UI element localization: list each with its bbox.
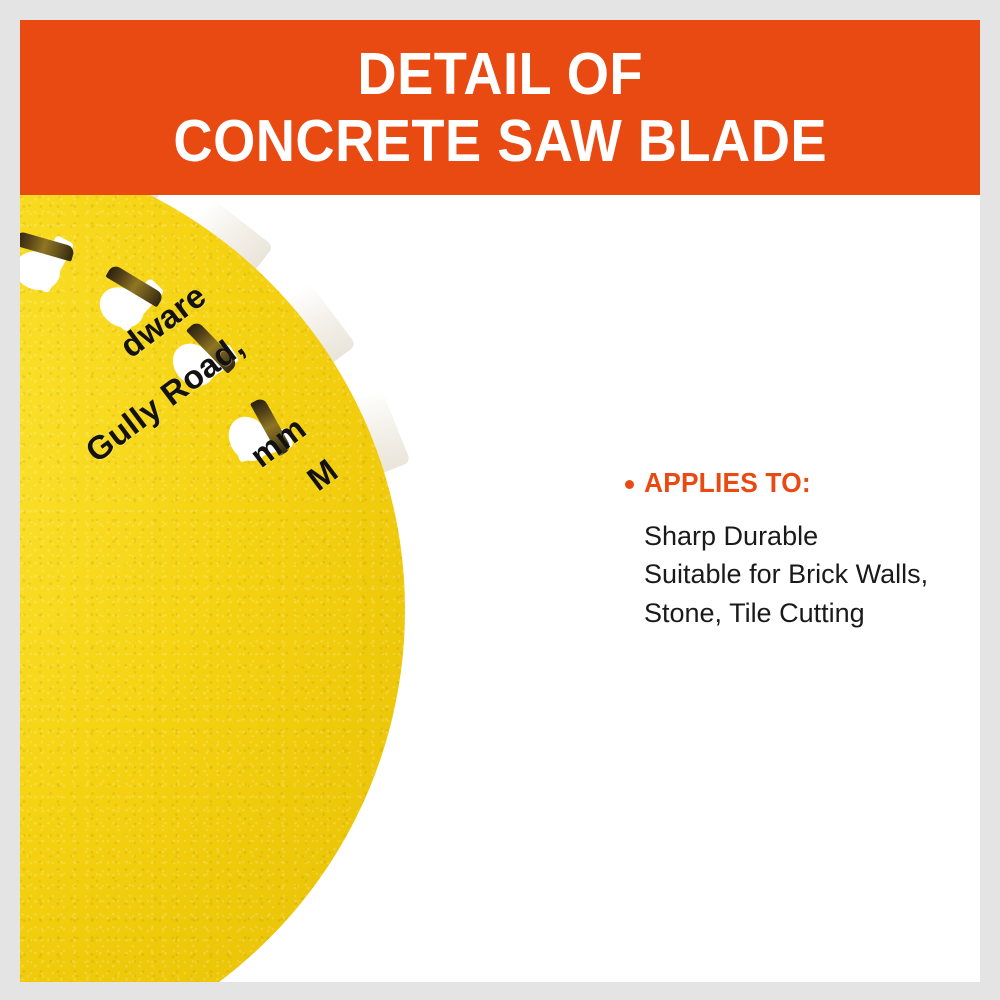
applies-to-body: Sharp Durable Suitable for Brick Walls, …	[644, 517, 975, 632]
banner-title-line-1: DETAIL OF	[357, 45, 643, 104]
applies-to-block: APPLIES TO: Sharp Durable Suitable for B…	[625, 467, 975, 632]
bullet-icon	[625, 480, 634, 489]
body-line-2: Suitable for Brick Walls,	[644, 555, 975, 593]
applies-to-label: APPLIES TO:	[644, 467, 811, 499]
header-banner: DETAIL OF CONCRETE SAW BLADE	[20, 20, 980, 195]
body-line-1: Sharp Durable	[644, 517, 975, 555]
image-canvas: dware Gully Road, mm M APPLIES TO: Sharp…	[20, 20, 980, 982]
banner-title-line-2: CONCRETE SAW BLADE	[173, 112, 827, 171]
applies-to-heading-row: APPLIES TO:	[625, 467, 975, 499]
product-image-page: dware Gully Road, mm M APPLIES TO: Sharp…	[0, 0, 1000, 1000]
product-photo: dware Gully Road, mm M APPLIES TO: Sharp…	[20, 195, 980, 982]
body-line-3: Stone, Tile Cutting	[644, 594, 975, 632]
